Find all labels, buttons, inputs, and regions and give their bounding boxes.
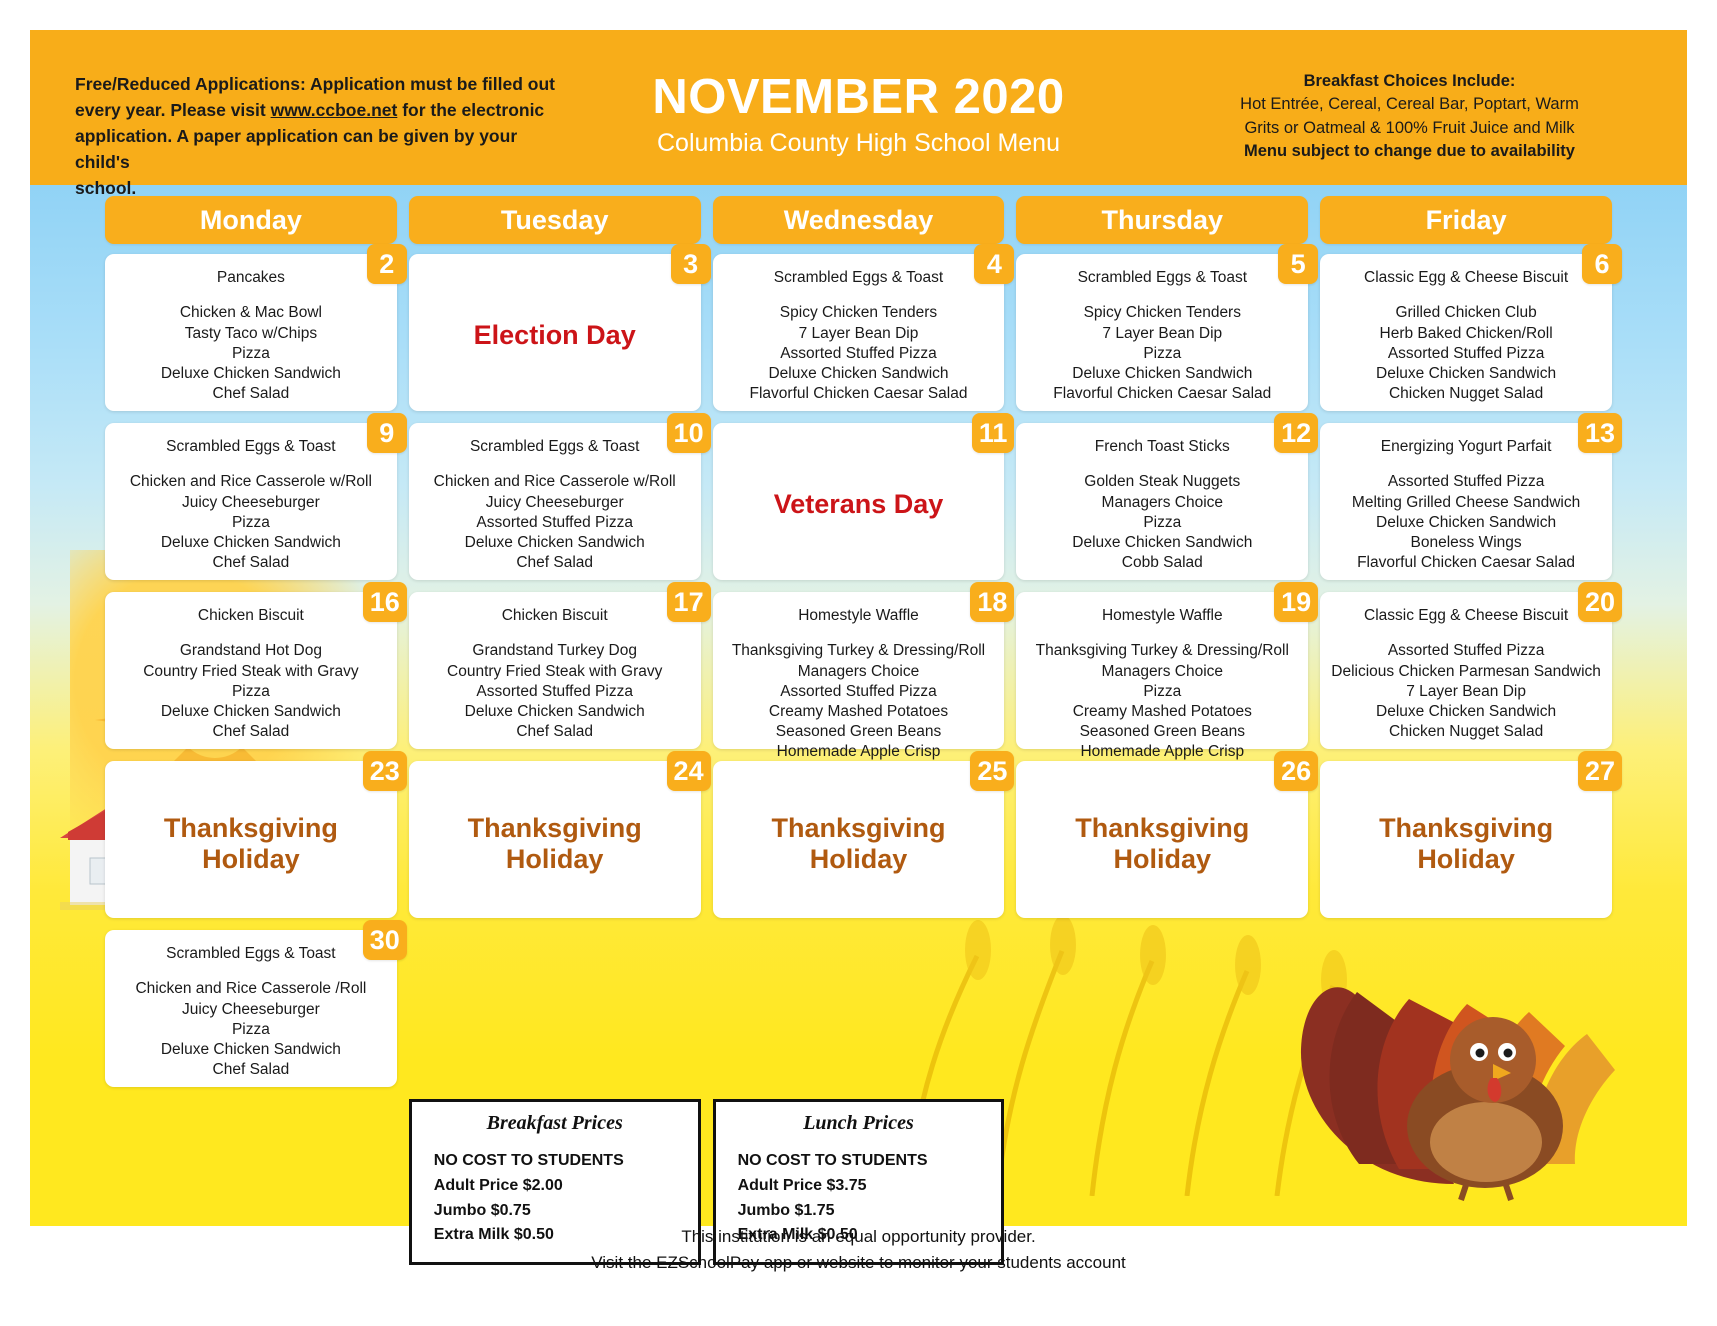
calendar-cell-empty [1320,930,1612,1087]
lunch-item: Pizza [115,682,387,702]
breakfast-choices-heading: Breakfast Choices Include: [1160,70,1659,93]
calendar-cell-slot [1320,930,1612,1099]
lunch-item: Seasoned Green Beans [723,722,995,742]
calendar-week-row: 16Chicken BiscuitGrandstand Hot DogCount… [30,592,1687,761]
calendar-day-cell[interactable]: 3Election Day [409,254,701,411]
day-number-badge: 18 [970,582,1014,622]
calendar-cell-empty [1016,930,1308,1087]
day-column-thursday: Thursday [1016,196,1308,254]
breakfast-price-line: Adult Price $2.00 [412,1174,698,1199]
day-number-badge: 30 [363,920,407,960]
lunch-item: Chicken and Rice Casserole w/Roll [419,472,691,492]
lunch-item: Chef Salad [115,553,387,573]
lunch-item: Chef Salad [419,553,691,573]
breakfast-item: Homestyle Waffle [1026,606,1298,625]
lunch-item: Homemade Apple Crisp [723,742,995,762]
breakfast-choices-line-2: Grits or Oatmeal & 100% Fruit Juice and … [1160,117,1659,140]
lunch-item-list: Assorted Stuffed PizzaMelting Grilled Ch… [1330,472,1602,573]
header-title-block: NOVEMBER 2020 Columbia County High Schoo… [575,30,1142,185]
lunch-item: Pizza [1026,513,1298,533]
lunch-item-list: Spicy Chicken Tenders7 Layer Bean DipPiz… [1026,303,1298,404]
lunch-item: Grandstand Hot Dog [115,641,387,661]
calendar-cell-slot: 24Thanksgiving Holiday [409,761,701,930]
calendar-day-cell[interactable]: 24Thanksgiving Holiday [409,761,701,918]
lunch-item: Managers Choice [1026,662,1298,682]
calendar-grid: MondayTuesdayWednesdayThursdayFriday 2Pa… [30,196,1687,1265]
page-footer: This institution is an equal opportunity… [0,1224,1717,1277]
lunch-item: Cobb Salad [1026,553,1298,573]
breakfast-item: Pancakes [115,268,387,287]
calendar-day-cell[interactable]: 30Scrambled Eggs & ToastChicken and Rice… [105,930,397,1087]
calendar-cell-slot: 2PancakesChicken & Mac BowlTasty Taco w/… [105,254,397,423]
calendar-cell-slot: 26Thanksgiving Holiday [1016,761,1308,930]
calendar-day-cell[interactable]: 27Thanksgiving Holiday [1320,761,1612,918]
notice-line-2-pre: every year. Please visit [75,100,271,120]
calendar-day-cell[interactable]: 5Scrambled Eggs & ToastSpicy Chicken Ten… [1016,254,1308,411]
lunch-item: Assorted Stuffed Pizza [723,344,995,364]
lunch-price-line: NO COST TO STUDENTS [716,1149,1002,1174]
day-number-badge: 9 [367,413,407,453]
calendar-cell-slot: 18Homestyle WaffleThanksgiving Turkey & … [713,592,1005,761]
calendar-cell-empty [409,930,701,1087]
day-header-thursday: Thursday [1016,196,1308,244]
day-name-header-row: MondayTuesdayWednesdayThursdayFriday [30,196,1687,254]
lunch-item: Chef Salad [115,722,387,742]
calendar-day-cell[interactable]: 12French Toast SticksGolden Steak Nugget… [1016,423,1308,580]
calendar-day-cell[interactable]: 26Thanksgiving Holiday [1016,761,1308,918]
calendar-cell-slot: 30Scrambled Eggs & ToastChicken and Rice… [105,930,397,1099]
lunch-item: Chicken and Rice Casserole w/Roll [115,472,387,492]
lunch-item: Flavorful Chicken Caesar Salad [1026,384,1298,404]
lunch-item: Assorted Stuffed Pizza [1330,641,1602,661]
calendar-cell-slot: 12French Toast SticksGolden Steak Nugget… [1016,423,1308,592]
lunch-item-list: Chicken and Rice Casserole w/RollJuicy C… [419,472,691,573]
calendar-day-cell[interactable]: 10Scrambled Eggs & ToastChicken and Rice… [409,423,701,580]
lunch-item: Deluxe Chicken Sandwich [419,533,691,553]
calendar-day-cell[interactable]: 18Homestyle WaffleThanksgiving Turkey & … [713,592,1005,749]
lunch-item: Deluxe Chicken Sandwich [1026,533,1298,553]
breakfast-item: Chicken Biscuit [419,606,691,625]
lunch-item: Boneless Wings [1330,533,1602,553]
lunch-item: Juicy Cheeseburger [115,1000,387,1020]
breakfast-item: Classic Egg & Cheese Biscuit [1330,606,1602,625]
calendar-cell-slot [713,930,1005,1099]
holiday-label: Thanksgiving Holiday [1330,775,1602,875]
lunch-item: Pizza [1026,682,1298,702]
day-number-badge: 24 [667,751,711,791]
holiday-label: Thanksgiving Holiday [115,775,387,875]
breakfast-choices-note: Breakfast Choices Include: Hot Entrée, C… [1142,30,1687,185]
lunch-item: Deluxe Chicken Sandwich [115,702,387,722]
breakfast-item: Scrambled Eggs & Toast [419,437,691,456]
lunch-item: Pizza [115,513,387,533]
breakfast-item: Scrambled Eggs & Toast [115,944,387,963]
day-number-badge: 26 [1274,751,1318,791]
calendar-cell-slot: 17Chicken BiscuitGrandstand Turkey DogCo… [409,592,701,761]
notice-line-3: application. A paper application can be … [75,126,517,172]
calendar-cell-slot: 19Homestyle WaffleThanksgiving Turkey & … [1016,592,1308,761]
page-header: Free/Reduced Applications: Application m… [30,30,1687,185]
lunch-item: Country Fried Steak with Gravy [419,662,691,682]
lunch-item: Managers Choice [723,662,995,682]
notice-line-2-post: for the electronic [397,100,544,120]
day-column-tuesday: Tuesday [409,196,701,254]
calendar-cell-slot: 5Scrambled Eggs & ToastSpicy Chicken Ten… [1016,254,1308,423]
day-column-friday: Friday [1320,196,1612,254]
calendar-day-cell[interactable]: 4Scrambled Eggs & ToastSpicy Chicken Ten… [713,254,1005,411]
lunch-item: Juicy Cheeseburger [115,493,387,513]
lunch-item: Tasty Taco w/Chips [115,324,387,344]
lunch-item-list: Thanksgiving Turkey & Dressing/RollManag… [1026,641,1298,762]
calendar-cell-slot [1016,930,1308,1099]
lunch-item: Managers Choice [1026,493,1298,513]
lunch-item: Thanksgiving Turkey & Dressing/Roll [1026,641,1298,661]
calendar-week-row: 2PancakesChicken & Mac BowlTasty Taco w/… [30,254,1687,423]
lunch-item: Seasoned Green Beans [1026,722,1298,742]
day-header-friday: Friday [1320,196,1612,244]
day-number-badge: 13 [1578,413,1622,453]
calendar-week-row: 30Scrambled Eggs & ToastChicken and Rice… [30,930,1687,1099]
holiday-label: Election Day [419,268,691,403]
lunch-item-list: Chicken & Mac BowlTasty Taco w/ChipsPizz… [115,303,387,404]
lunch-item: Delicious Chicken Parmesan Sandwich [1330,662,1602,682]
calendar-day-cell[interactable]: 2PancakesChicken & Mac BowlTasty Taco w/… [105,254,397,411]
lunch-item-list: Grandstand Hot DogCountry Fried Steak wi… [115,641,387,742]
lunch-item: Deluxe Chicken Sandwich [115,1040,387,1060]
day-number-badge: 17 [667,582,711,622]
calendar-day-cell[interactable]: 25Thanksgiving Holiday [713,761,1005,918]
lunch-price-line: Jumbo $1.75 [716,1199,1002,1224]
lunch-item: Deluxe Chicken Sandwich [1330,702,1602,722]
lunch-item: 7 Layer Bean Dip [723,324,995,344]
lunch-item: Chef Salad [115,384,387,404]
page-subtitle: Columbia County High School Menu [575,129,1142,158]
breakfast-item: Scrambled Eggs & Toast [723,268,995,287]
breakfast-item: Classic Egg & Cheese Biscuit [1330,268,1602,287]
lunch-item: Assorted Stuffed Pizza [723,682,995,702]
calendar-cell-slot: 16Chicken BiscuitGrandstand Hot DogCount… [105,592,397,761]
footer-line-2: Visit the EZSchoolPay app or website to … [0,1250,1717,1276]
calendar-day-cell[interactable]: 13Energizing Yogurt ParfaitAssorted Stuf… [1320,423,1612,580]
lunch-item: Chef Salad [115,1060,387,1080]
page-title: NOVEMBER 2020 [575,72,1142,123]
calendar-cell-slot: 6Classic Egg & Cheese BiscuitGrilled Chi… [1320,254,1612,423]
lunch-item-list: Grandstand Turkey DogCountry Fried Steak… [419,641,691,742]
day-header-wednesday: Wednesday [713,196,1005,244]
calendar-cell-slot: 3Election Day [409,254,701,423]
lunch-item: Flavorful Chicken Caesar Salad [1330,553,1602,573]
calendar-day-cell[interactable]: 23Thanksgiving Holiday [105,761,397,918]
day-number-badge: 25 [970,751,1014,791]
lunch-item: Assorted Stuffed Pizza [1330,472,1602,492]
calendar-day-cell[interactable]: 17Chicken BiscuitGrandstand Turkey DogCo… [409,592,701,749]
lunch-item: Spicy Chicken Tenders [723,303,995,323]
lunch-price-line: Adult Price $3.75 [716,1174,1002,1199]
lunch-item-list: Spicy Chicken Tenders7 Layer Bean DipAss… [723,303,995,404]
breakfast-prices-title: Breakfast Prices [412,1112,698,1135]
lunch-item: Chef Salad [419,722,691,742]
day-number-badge: 10 [667,413,711,453]
day-number-badge: 20 [1578,582,1622,622]
lunch-item: Chicken & Mac Bowl [115,303,387,323]
calendar-cell-slot: 4Scrambled Eggs & ToastSpicy Chicken Ten… [713,254,1005,423]
calendar-cell-slot: 10Scrambled Eggs & ToastChicken and Rice… [409,423,701,592]
day-header-monday: Monday [105,196,397,244]
day-number-badge: 4 [974,244,1014,284]
day-number-badge: 12 [1274,413,1318,453]
breakfast-price-line: NO COST TO STUDENTS [412,1149,698,1174]
lunch-item-list: Chicken and Rice Casserole w/RollJuicy C… [115,472,387,573]
calendar-day-cell[interactable]: 19Homestyle WaffleThanksgiving Turkey & … [1016,592,1308,749]
lunch-item: Herb Baked Chicken/Roll [1330,324,1602,344]
lunch-item: Melting Grilled Cheese Sandwich [1330,493,1602,513]
calendar-day-cell[interactable]: 11Veterans Day [713,423,1005,580]
footer-line-1: This institution is an equal opportunity… [0,1224,1717,1250]
holiday-label: Thanksgiving Holiday [419,775,691,875]
lunch-item: 7 Layer Bean Dip [1330,682,1602,702]
lunch-item: Homemade Apple Crisp [1026,742,1298,762]
lunch-item: Assorted Stuffed Pizza [419,513,691,533]
lunch-item-list: Grilled Chicken ClubHerb Baked Chicken/R… [1330,303,1602,404]
breakfast-item: Homestyle Waffle [723,606,995,625]
breakfast-item: Chicken Biscuit [115,606,387,625]
lunch-item: Assorted Stuffed Pizza [1330,344,1602,364]
day-column-monday: Monday [105,196,397,254]
calendar-day-cell[interactable]: 6Classic Egg & Cheese BiscuitGrilled Chi… [1320,254,1612,411]
calendar-cell-slot: 23Thanksgiving Holiday [105,761,397,930]
calendar-cell-slot: 20Classic Egg & Cheese BiscuitAssorted S… [1320,592,1612,761]
calendar-cell-slot: 13Energizing Yogurt ParfaitAssorted Stuf… [1320,423,1612,592]
calendar-day-cell[interactable]: 16Chicken BiscuitGrandstand Hot DogCount… [105,592,397,749]
day-number-badge: 23 [363,751,407,791]
breakfast-choices-line-1: Hot Entrée, Cereal, Cereal Bar, Poptart,… [1160,93,1659,116]
lunch-item: Pizza [115,344,387,364]
menu-disclaimer: Menu subject to change due to availabili… [1160,140,1659,163]
holiday-label: Thanksgiving Holiday [723,775,995,875]
day-number-badge: 2 [367,244,407,284]
day-number-badge: 16 [363,582,407,622]
free-reduced-notice: Free/Reduced Applications: Application m… [30,30,575,185]
holiday-label: Thanksgiving Holiday [1026,775,1298,875]
breakfast-price-line: Jumbo $0.75 [412,1199,698,1224]
lunch-item: Creamy Mashed Potatoes [1026,702,1298,722]
calendar-cell-slot: 9Scrambled Eggs & ToastChicken and Rice … [105,423,397,592]
lunch-item: Deluxe Chicken Sandwich [419,702,691,722]
lunch-item: Deluxe Chicken Sandwich [1330,513,1602,533]
calendar-cell-slot: 25Thanksgiving Holiday [713,761,1005,930]
day-number-badge: 11 [972,413,1015,453]
breakfast-item: Scrambled Eggs & Toast [1026,268,1298,287]
lunch-item: Juicy Cheeseburger [419,493,691,513]
breakfast-item: Energizing Yogurt Parfait [1330,437,1602,456]
breakfast-item: French Toast Sticks [1026,437,1298,456]
lunch-item: Grilled Chicken Club [1330,303,1602,323]
day-column-wednesday: Wednesday [713,196,1005,254]
lunch-item: Creamy Mashed Potatoes [723,702,995,722]
lunch-item: 7 Layer Bean Dip [1026,324,1298,344]
day-header-tuesday: Tuesday [409,196,701,244]
lunch-item: Country Fried Steak with Gravy [115,662,387,682]
holiday-label: Veterans Day [723,437,995,572]
ccboe-link[interactable]: www.ccboe.net [271,100,398,120]
lunch-item: Deluxe Chicken Sandwich [115,364,387,384]
day-number-badge: 27 [1578,751,1622,791]
lunch-item: Deluxe Chicken Sandwich [1330,364,1602,384]
lunch-item-list: Chicken and Rice Casserole /RollJuicy Ch… [115,979,387,1080]
lunch-item: Chicken Nugget Salad [1330,722,1602,742]
menu-calendar-page: Free/Reduced Applications: Application m… [0,0,1717,1326]
day-number-badge: 6 [1582,244,1622,284]
lunch-item-list: Golden Steak NuggetsManagers ChoicePizza… [1026,472,1298,573]
lunch-item-list: Thanksgiving Turkey & Dressing/RollManag… [723,641,995,762]
lunch-item-list: Assorted Stuffed PizzaDelicious Chicken … [1330,641,1602,742]
breakfast-item: Scrambled Eggs & Toast [115,437,387,456]
day-number-badge: 19 [1274,582,1318,622]
lunch-prices-title: Lunch Prices [716,1112,1002,1135]
calendar-weeks: 2PancakesChicken & Mac BowlTasty Taco w/… [30,254,1687,1099]
lunch-item: Deluxe Chicken Sandwich [723,364,995,384]
calendar-day-cell[interactable]: 9Scrambled Eggs & ToastChicken and Rice … [105,423,397,580]
calendar-cell-empty [713,930,1005,1087]
lunch-item: Chicken Nugget Salad [1330,384,1602,404]
lunch-item: Flavorful Chicken Caesar Salad [723,384,995,404]
notice-line-4: school. [75,178,136,198]
calendar-week-row: 9Scrambled Eggs & ToastChicken and Rice … [30,423,1687,592]
lunch-item: Chicken and Rice Casserole /Roll [115,979,387,999]
calendar-cell-slot: 27Thanksgiving Holiday [1320,761,1612,930]
lunch-item: Spicy Chicken Tenders [1026,303,1298,323]
calendar-week-row: 23Thanksgiving Holiday24Thanksgiving Hol… [30,761,1687,930]
lunch-item: Thanksgiving Turkey & Dressing/Roll [723,641,995,661]
day-number-badge: 5 [1278,244,1318,284]
notice-line-1: Free/Reduced Applications: Application m… [75,74,555,94]
calendar-day-cell[interactable]: 20Classic Egg & Cheese BiscuitAssorted S… [1320,592,1612,749]
lunch-item: Grandstand Turkey Dog [419,641,691,661]
calendar-cell-slot: 11Veterans Day [713,423,1005,592]
lunch-item: Deluxe Chicken Sandwich [1026,364,1298,384]
lunch-item: Golden Steak Nuggets [1026,472,1298,492]
lunch-item: Deluxe Chicken Sandwich [115,533,387,553]
lunch-item: Assorted Stuffed Pizza [419,682,691,702]
day-number-badge: 3 [671,244,711,284]
calendar-cell-slot [409,930,701,1099]
lunch-item: Pizza [1026,344,1298,364]
lunch-item: Pizza [115,1020,387,1040]
